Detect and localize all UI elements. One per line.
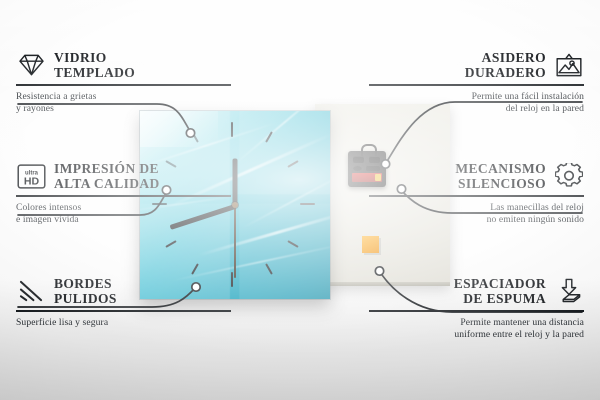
feature-title: VIDRIOTEMPLADO — [54, 50, 135, 80]
feature-header: BORDESPULIDOS — [16, 276, 231, 306]
picture-frame-hanger-icon — [554, 51, 584, 79]
foam-spacer-pad — [362, 236, 379, 253]
feature-divider — [369, 195, 584, 197]
feature-title: BORDESPULIDOS — [54, 276, 117, 306]
feature-callout-espaciador-de-espuma: ESPACIADORDE ESPUMA Permite mantener una… — [369, 276, 584, 342]
feature-divider — [16, 195, 231, 197]
feature-title: MECANISMOSILENCIOSO — [455, 161, 546, 191]
feature-description: Resistencia a grietasy rayones — [16, 91, 231, 116]
feature-callout-impresion-alta-calidad: ultraHD IMPRESIÓN DEALTA CALIDAD Colores… — [16, 161, 231, 227]
mechanism-button — [353, 156, 364, 163]
svg-text:HD: HD — [23, 175, 39, 187]
feature-divider — [369, 84, 584, 86]
feature-title: ASIDERODURADERO — [465, 50, 546, 80]
clock-tick — [231, 272, 233, 287]
clock-second-hand — [234, 206, 236, 278]
feature-description: Permite una fácil instalacióndel reloj e… — [369, 91, 584, 116]
feature-title: IMPRESIÓN DEALTA CALIDAD — [54, 161, 160, 191]
feature-divider — [16, 310, 231, 312]
infographic-canvas: VIDRIOTEMPLADO Resistencia a grietasy ra… — [0, 0, 600, 400]
feature-divider — [16, 84, 231, 86]
clock-tick — [300, 203, 315, 205]
feature-description: Superficie lisa y segura — [16, 317, 231, 330]
feature-header: ESPACIADORDE ESPUMA — [369, 276, 584, 306]
feature-description: Permite mantener una distanciauniforme e… — [369, 317, 584, 342]
feature-description: Colores intensose imagen vívida — [16, 202, 231, 227]
gear-icon — [554, 162, 584, 190]
glass-glare — [140, 111, 218, 147]
ultra-hd-icon: ultraHD — [16, 162, 46, 190]
polished-edges-icon — [16, 277, 46, 305]
feature-description: Las manecillas del relojno emiten ningún… — [369, 202, 584, 227]
feature-title: ESPACIADORDE ESPUMA — [454, 276, 546, 306]
feature-header: MECANISMOSILENCIOSO — [369, 161, 584, 191]
mechanism-hanger-loop — [361, 144, 377, 156]
clock-hour-hand — [233, 159, 238, 207]
feature-callout-vidrio-templado: VIDRIOTEMPLADO Resistencia a grietasy ra… — [16, 50, 231, 116]
press-down-foam-icon — [554, 277, 584, 305]
feature-callout-asidero-duradero: ASIDERODURADERO Permite una fácil instal… — [369, 50, 584, 116]
feature-divider — [369, 310, 584, 312]
feature-header: VIDRIOTEMPLADO — [16, 50, 231, 80]
diamond-icon — [16, 51, 46, 79]
feature-callout-bordes-pulidos: BORDESPULIDOS Superficie lisa y segura — [16, 276, 231, 329]
clock-tick — [231, 122, 233, 137]
feature-callout-mecanismo-silencioso: MECANISMOSILENCIOSO Las manecillas del r… — [369, 161, 584, 227]
feature-header: ASIDERODURADERO — [369, 50, 584, 80]
feature-header: ultraHD IMPRESIÓN DEALTA CALIDAD — [16, 161, 231, 191]
clock-center-hub — [232, 202, 238, 208]
mechanism-dial — [353, 165, 362, 171]
